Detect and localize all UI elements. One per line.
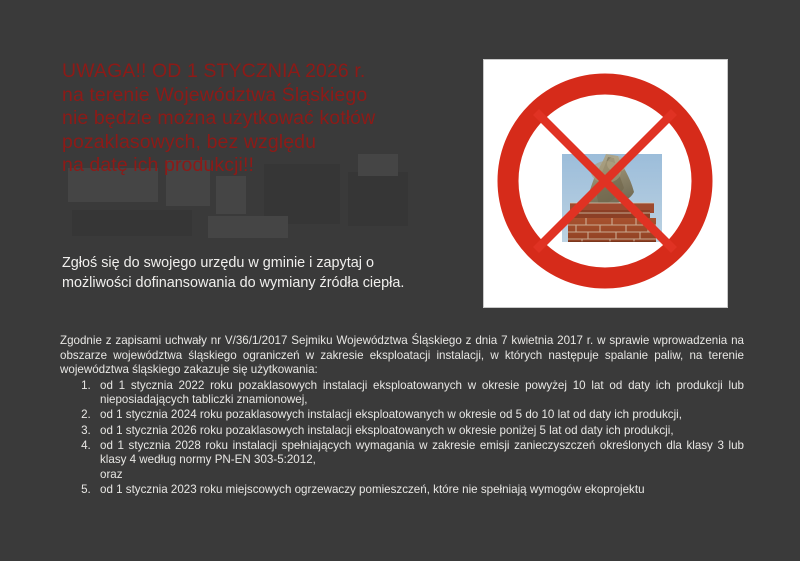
list-item-text: od 1 stycznia 2024 roku pozaklasowych in… bbox=[100, 408, 682, 421]
list-item-text: od 1 stycznia 2022 roku pozaklasowych in… bbox=[100, 379, 744, 407]
smoking-chimney-photo bbox=[562, 154, 662, 244]
list-item-text: od 1 stycznia 2028 roku instalacji spełn… bbox=[100, 439, 744, 467]
list-item: od 1 stycznia 2023 roku miejscowych ogrz… bbox=[94, 483, 744, 498]
list-item: od 1 stycznia 2028 roku instalacji spełn… bbox=[94, 439, 744, 483]
list-item: od 1 stycznia 2026 roku pozaklasowych in… bbox=[94, 424, 744, 439]
poster-slide: UWAGA!! OD 1 STYCZNIA 2026 r. na terenie… bbox=[0, 0, 800, 561]
list-item-suffix: oraz bbox=[100, 468, 744, 483]
list-item: od 1 stycznia 2022 roku pozaklasowych in… bbox=[94, 379, 744, 408]
list-item-text: od 1 stycznia 2026 roku pozaklasowych in… bbox=[100, 424, 674, 437]
legal-intro-paragraph: Zgodnie z zapisami uchwały nr V/36/1/201… bbox=[60, 334, 744, 378]
prohibition-sign-panel bbox=[484, 60, 727, 307]
list-item: od 1 stycznia 2024 roku pozaklasowych in… bbox=[94, 408, 744, 423]
page-title: UWAGA!! OD 1 STYCZNIA 2026 r. na terenie… bbox=[62, 60, 462, 178]
legal-text-block: Zgodnie z zapisami uchwały nr V/36/1/201… bbox=[60, 334, 744, 498]
legal-items-list: od 1 stycznia 2022 roku pozaklasowych in… bbox=[60, 379, 744, 498]
no-smoking-chimney-icon bbox=[484, 60, 727, 307]
call-to-action-text: Zgłoś się do swojego urzędu w gminie i z… bbox=[62, 253, 422, 293]
list-item-text: od 1 stycznia 2023 roku miejscowych ogrz… bbox=[100, 483, 645, 496]
